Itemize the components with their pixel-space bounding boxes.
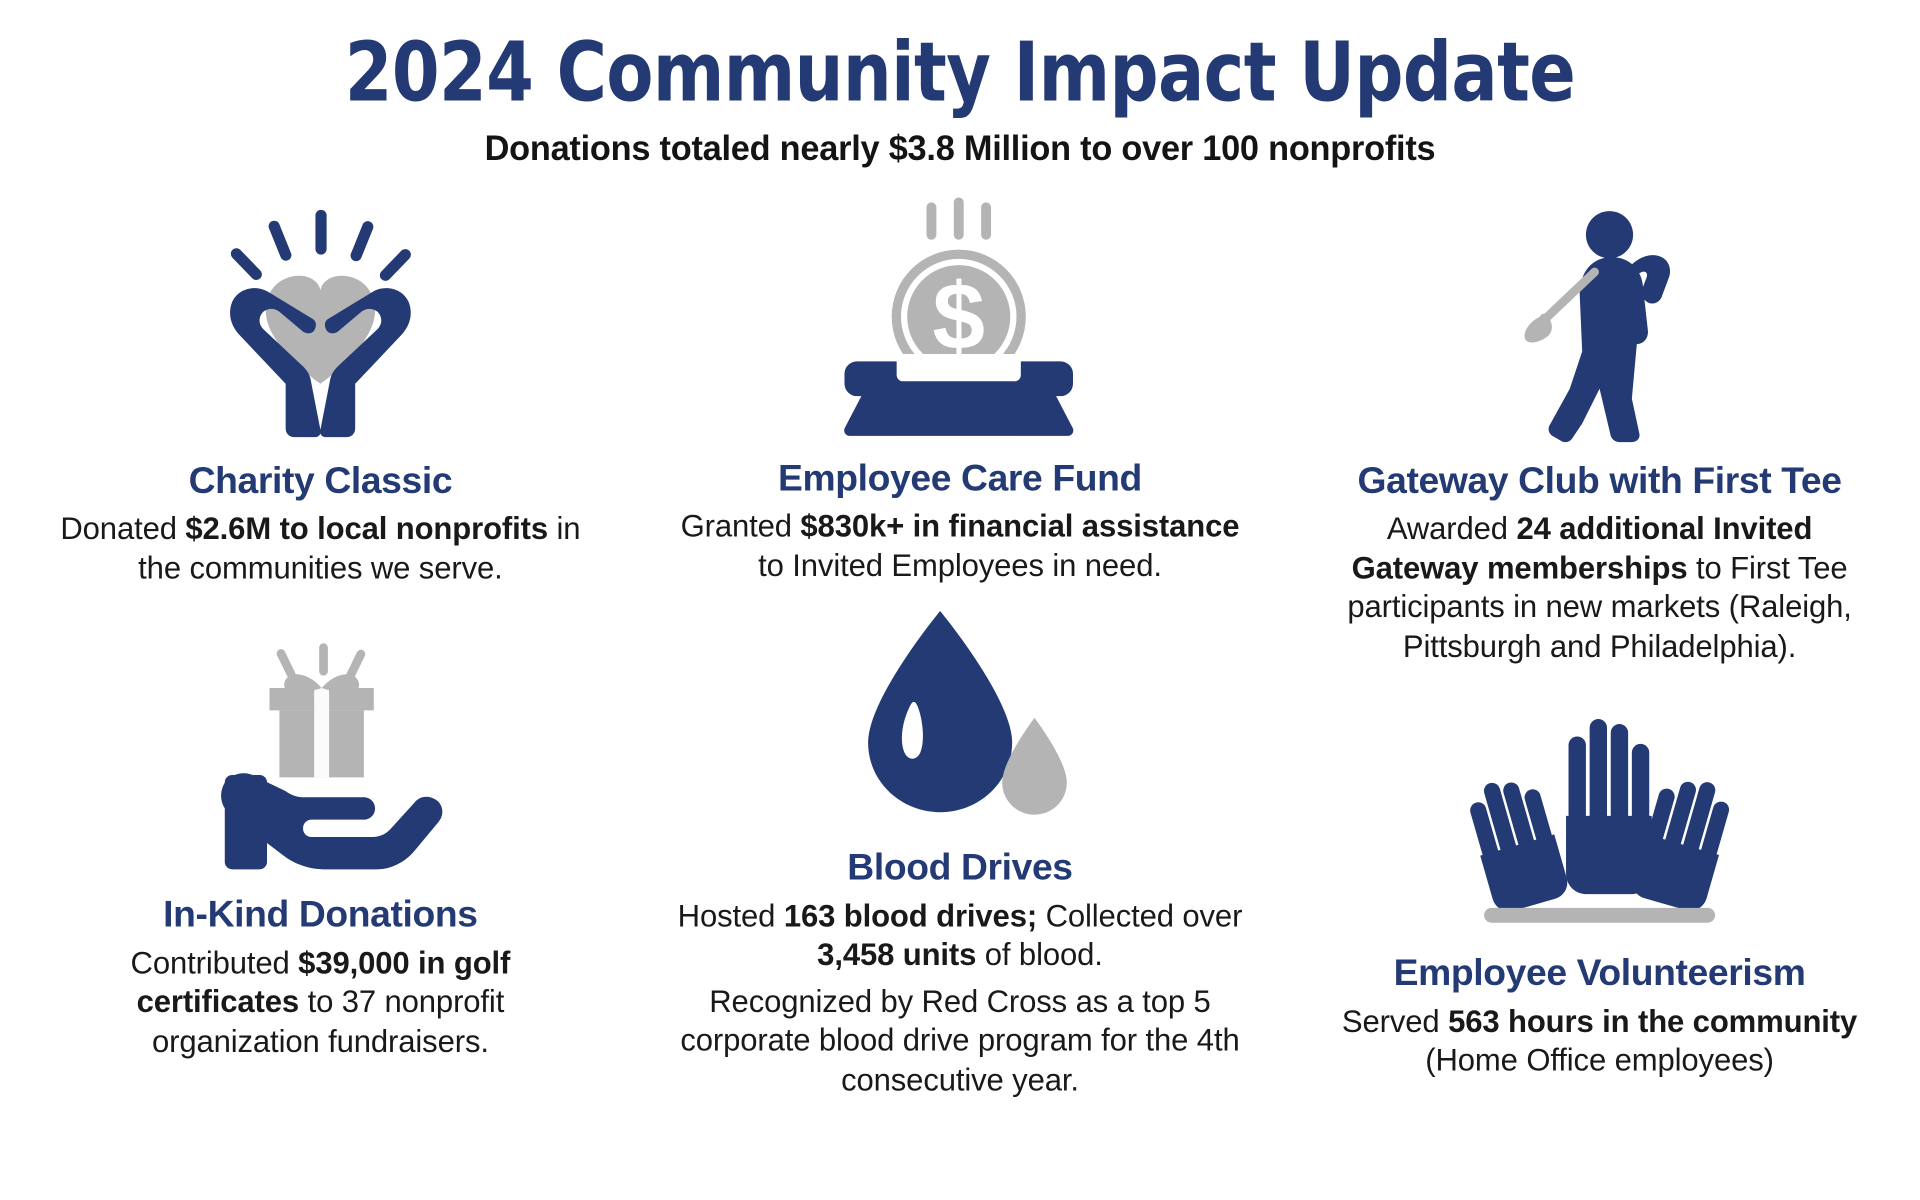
grid-column-middle: $ Employee Care Fund Granted $830k+ in f…	[640, 202, 1280, 1101]
card-title: Charity Classic	[1, 461, 641, 504]
card-body: Hosted 163 blood drives; Collected over …	[668, 898, 1252, 976]
card-title: Employee Volunteerism	[1280, 953, 1920, 996]
header: 2024 Community Impact Update Donations t…	[0, 0, 1920, 170]
card-charity-classic: Charity Classic Donated $2.6M to local n…	[1, 202, 641, 589]
golfer-icon	[1280, 202, 1920, 445]
card-title: In-Kind Donations	[1, 895, 641, 938]
card-body-secondary: Recognized by Red Cross as a top 5 corpo…	[668, 983, 1252, 1100]
page-subtitle: Donations totaled nearly $3.8 Million to…	[29, 129, 1891, 170]
card-body: Granted $830k+ in financial assistance t…	[668, 508, 1252, 586]
raised-hands-icon	[1280, 715, 1920, 936]
card-body: Served 563 hours in the community (Home …	[1320, 1003, 1879, 1081]
card-in-kind-donations: In-Kind Donations Contributed $39,000 in…	[1, 634, 641, 1062]
impact-grid: Charity Classic Donated $2.6M to local n…	[0, 202, 1920, 1101]
hands-holding-heart-icon	[1, 202, 641, 445]
hand-holding-gift-icon	[1, 634, 641, 877]
page-title: 2024 Community Impact Update	[67, 27, 1853, 119]
card-title: Blood Drives	[640, 847, 1280, 890]
card-employee-volunteerism: Employee Volunteerism Served 563 hours i…	[1280, 715, 1920, 1082]
card-title: Gateway Club with First Tee	[1280, 461, 1920, 504]
card-body: Awarded 24 additional Invited Gateway me…	[1320, 511, 1879, 667]
card-blood-drives: Blood Drives Hosted 163 blood drives; Co…	[640, 592, 1280, 1101]
card-title: Employee Care Fund	[640, 458, 1280, 501]
card-employee-care-fund: $ Employee Care Fund Granted $830k+ in f…	[640, 197, 1280, 586]
infographic-page: 2024 Community Impact Update Donations t…	[0, 0, 1920, 1200]
card-body: Contributed $39,000 in golf certificates…	[115, 945, 525, 1062]
blood-drop-icon	[640, 592, 1280, 835]
grid-column-left: Charity Classic Donated $2.6M to local n…	[1, 202, 641, 1062]
card-gateway-club-first-tee: Gateway Club with First Tee Awarded 24 a…	[1280, 202, 1920, 667]
infographic-canvas: 2024 Community Impact Update Donations t…	[0, 0, 1920, 1188]
grid-column-right: Gateway Club with First Tee Awarded 24 a…	[1280, 202, 1920, 1081]
donation-box-coin-icon: $	[640, 197, 1280, 440]
card-body: Donated $2.6M to local nonprofits in the…	[47, 511, 593, 589]
